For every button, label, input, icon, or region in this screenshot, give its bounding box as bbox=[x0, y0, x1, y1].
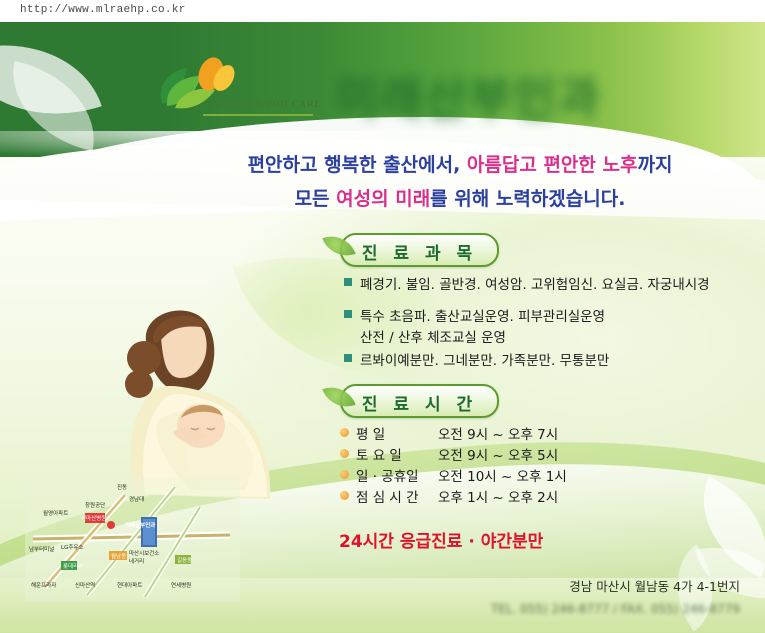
map-label-12: 월남동 bbox=[111, 552, 126, 560]
map-label-8: 네거리 bbox=[129, 557, 144, 565]
hours-row-1-value: 오전 9시 ~ 오후 7시 bbox=[438, 423, 558, 443]
map-label-0: 진동 bbox=[117, 483, 127, 491]
map-label-4: 신마산역 bbox=[75, 581, 95, 589]
poster-canvas: FOR THE GOOD CARE 미래산부인과 편안하고 행복한 출산에서, … bbox=[0, 22, 765, 633]
hours-row-3-value: 오전 10시 ~ 오후 1시 bbox=[438, 465, 567, 485]
hours-row-2-label: 토 요 일 bbox=[356, 444, 434, 464]
map-label-11: 창원공단 bbox=[85, 501, 105, 509]
map-label-10: 롯데리아 bbox=[63, 562, 83, 570]
map-label-1: 월영아파트 bbox=[43, 509, 68, 517]
location-map[interactable]: 진동 월영아파트 남부터미널 해운프라자 신마산역 경남대 신마산병원 마산시보… bbox=[25, 477, 240, 602]
hours-row-2-value: 오전 9시 ~ 오후 5시 bbox=[438, 444, 558, 464]
hours-row-3-label: 일 · 공휴일 bbox=[356, 465, 434, 485]
map-label-13: 연세병원 bbox=[171, 581, 191, 589]
bullet-dot-1 bbox=[340, 428, 349, 437]
departments-title: 진 료 과 목 bbox=[342, 239, 497, 264]
map-label-15: 길음동 bbox=[177, 556, 192, 564]
bullet-dot-4 bbox=[340, 491, 349, 500]
slogan-1-part-c: 까지 bbox=[637, 154, 672, 176]
slogan-1-part-a: 편안하고 행복한 출산에서, bbox=[248, 154, 467, 176]
browser-url-bar: http://www.mlraehp.co.kr bbox=[0, 0, 765, 22]
hours-row-4-label: 점 심 시 간 bbox=[356, 486, 434, 506]
clinic-tel-blurred: TEL. 055) 246-8777 / FAX. 055) 246-8779 bbox=[380, 602, 740, 616]
bullet-dot-2 bbox=[340, 449, 349, 458]
slogan-1-highlight: 아름답고 편안한 노후 bbox=[467, 154, 638, 176]
departments-title-pill: 진 료 과 목 bbox=[340, 233, 499, 267]
map-label-3: 해운프라자 bbox=[31, 581, 56, 589]
clinic-logo: FOR THE GOOD CARE bbox=[125, 52, 330, 132]
hours-title: 진 료 시 간 bbox=[342, 390, 497, 415]
bullet-dot-3 bbox=[340, 470, 349, 479]
map-label-2: 남부터미널 bbox=[29, 545, 54, 553]
logo-underline bbox=[203, 114, 313, 116]
map-label-14: 현대아파트 bbox=[117, 581, 142, 589]
hospital-name-blurred: 미래산부인과 bbox=[336, 62, 676, 120]
map-label-5: 경남대 bbox=[129, 495, 144, 503]
slogan-line-1: 편안하고 행복한 출산에서, 아름답고 편안한 노후까지 bbox=[200, 150, 720, 177]
map-label-9: LG주유소 bbox=[61, 543, 84, 551]
slogan-2-highlight: 여성의 미래 bbox=[336, 188, 430, 210]
clinic-address: 경남 마산시 월남동 4가 4-1번지 bbox=[400, 576, 740, 595]
bullet-square-2 bbox=[344, 310, 352, 318]
emergency-notice: 24시간 응급진료 · 야간분만 bbox=[339, 527, 543, 552]
hours-title-pill: 진 료 시 간 bbox=[340, 384, 499, 418]
logo-tagline: FOR THE GOOD CARE bbox=[205, 100, 322, 110]
leaf-logo-icon bbox=[125, 52, 330, 132]
department-item-2: 특수 초음파. 출산교실운영. 피부관리실운영 bbox=[360, 305, 605, 325]
department-item-1: 폐경기. 불임. 골반경. 여성암. 고위험임신. 요실금. 자궁내시경 bbox=[360, 273, 710, 293]
map-label-6: 신마산병원 bbox=[81, 514, 106, 522]
hours-row-1-label: 평 일 bbox=[356, 423, 434, 443]
bullet-square-3 bbox=[344, 354, 352, 362]
slogan-2-part-c: 를 위해 노력하겠습니다. bbox=[430, 188, 625, 210]
map-label-highlight: 미래산부인과 bbox=[125, 521, 155, 529]
slogan-line-2: 모든 여성의 미래를 위해 노력하겠습니다. bbox=[200, 184, 720, 211]
hours-row-4-value: 오후 1시 ~ 오후 2시 bbox=[438, 486, 558, 506]
department-item-4: 르봐이예분만. 그네분만. 가족분만. 무통분만 bbox=[360, 349, 609, 369]
department-item-3: 산전 / 산후 체조교실 운영 bbox=[360, 326, 506, 346]
map-label-7: 마산시보건소 bbox=[129, 549, 159, 557]
bullet-square-1 bbox=[344, 278, 352, 286]
slogan-2-part-a: 모든 bbox=[295, 188, 337, 210]
url-text: http://www.mlraehp.co.kr bbox=[20, 4, 186, 16]
poster-page: http://www.mlraehp.co.kr FOR THE GOOD C bbox=[0, 0, 765, 633]
